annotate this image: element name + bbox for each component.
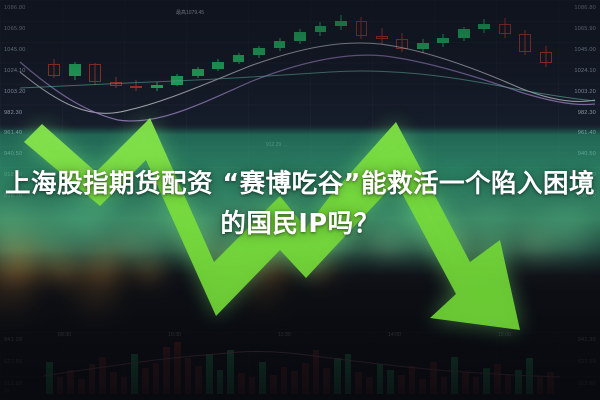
headline-text: 上海股指期货配资 “赛博吃谷”能救活一个陷入困境 的国民IP吗？ [0,164,600,244]
headline-line-1: 上海股指期货配资 “赛博吃谷”能救活一个陷入困境 [0,164,600,204]
poster-canvas: 最高1079.45 912.29 → 1086.801065.901045.00… [0,0,600,400]
headline-line-2: 的国民IP吗？ [0,204,600,244]
